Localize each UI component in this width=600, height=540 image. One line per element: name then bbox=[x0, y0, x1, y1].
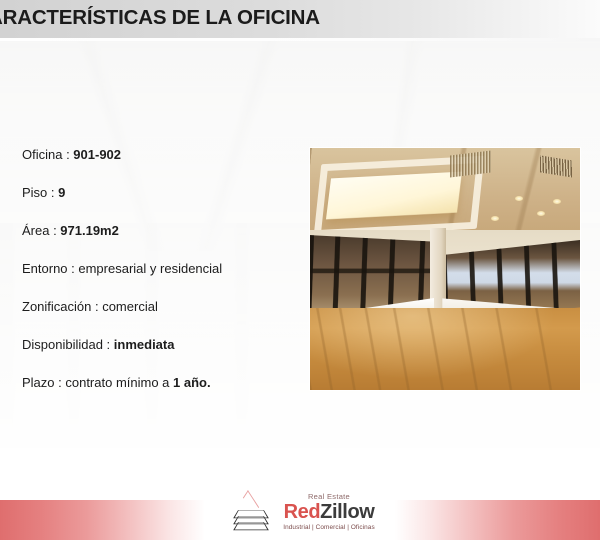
spec-row-entorno: Entorno : empresarial y residencial bbox=[22, 259, 302, 297]
spec-value-piso: 9 bbox=[58, 185, 65, 200]
spec-value-plazo-highlight: 1 año. bbox=[173, 375, 211, 390]
spec-row-disponibilidad: Disponibilidad : inmediata bbox=[22, 335, 302, 373]
spec-label-oficina: Oficina : bbox=[22, 147, 73, 162]
slide-canvas: ARACTERÍSTICAS DE LA OFICINA Oficina : 9… bbox=[0, 0, 600, 540]
stacked-diamond-icon bbox=[232, 498, 272, 534]
header-band: ARACTERÍSTICAS DE LA OFICINA bbox=[0, 0, 600, 38]
spec-row-plazo: Plazo : contrato mínimo a 1 año. bbox=[22, 373, 302, 411]
spec-label-piso: Piso : bbox=[22, 185, 58, 200]
page-title: ARACTERÍSTICAS DE LA OFICINA bbox=[0, 6, 320, 30]
spec-label-zonificacion: Zonificación : bbox=[22, 299, 102, 314]
brand-logo: Real Estate RedZillow Industrial | Comer… bbox=[232, 492, 382, 536]
spec-value-disponibilidad: inmediata bbox=[114, 337, 175, 352]
spec-value-area: 971.19m2 bbox=[60, 223, 119, 238]
brand-logo-text: Real Estate RedZillow Industrial | Comer… bbox=[276, 492, 382, 532]
footer-bar-right bbox=[395, 500, 600, 540]
spec-value-zonificacion: comercial bbox=[102, 299, 158, 314]
spec-value-plazo: contrato mínimo a bbox=[65, 375, 173, 390]
spec-label-entorno: Entorno : bbox=[22, 261, 78, 276]
spec-value-oficina: 901-902 bbox=[73, 147, 121, 162]
brand-wordmark-red: Red bbox=[284, 501, 321, 523]
photo-downlight bbox=[491, 216, 499, 221]
photo-downlight bbox=[537, 211, 545, 216]
footer-bar-left bbox=[0, 500, 205, 540]
spec-value-entorno: empresarial y residencial bbox=[78, 261, 222, 276]
photo-floor-planks bbox=[310, 308, 580, 390]
photo-column bbox=[430, 228, 446, 308]
brand-wordmark: RedZillow bbox=[276, 502, 382, 523]
brand-tagline: Industrial | Comercial | Oficinas bbox=[276, 523, 382, 532]
spec-label-area: Área : bbox=[22, 223, 60, 238]
photo-downlight bbox=[553, 199, 561, 204]
spec-label-disponibilidad: Disponibilidad : bbox=[22, 337, 114, 352]
brand-wordmark-dark: Zillow bbox=[320, 501, 374, 523]
spec-label-plazo: Plazo : bbox=[22, 375, 65, 390]
spec-row-area: Área : 971.19m2 bbox=[22, 221, 302, 259]
spec-row-piso: Piso : 9 bbox=[22, 183, 302, 221]
office-photo bbox=[310, 148, 580, 390]
diamond-layer-bottom bbox=[233, 522, 269, 530]
spec-row-oficina: Oficina : 901-902 bbox=[22, 145, 302, 183]
spec-row-zonificacion: Zonificación : comercial bbox=[22, 297, 302, 335]
office-photo-image bbox=[310, 148, 580, 390]
office-specs-list: Oficina : 901-902 Piso : 9 Área : 971.19… bbox=[22, 145, 302, 411]
